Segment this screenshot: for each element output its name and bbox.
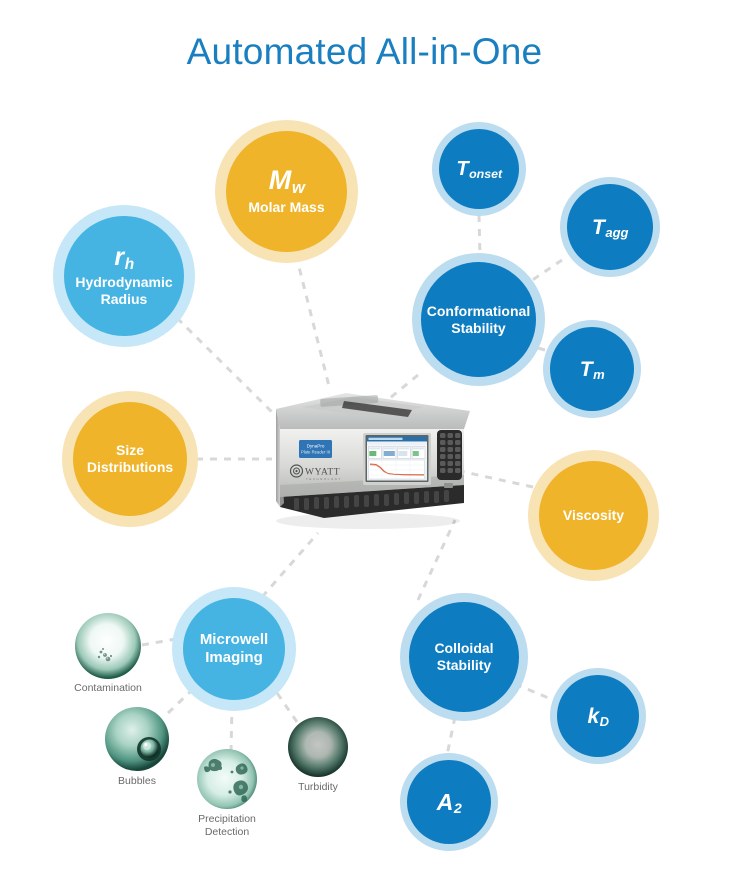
well-contamination[interactable]: Contamination: [74, 612, 142, 680]
well-bubbles-caption: Bubbles: [57, 775, 217, 788]
svg-text:Plate Reader III: Plate Reader III: [301, 449, 330, 454]
well-precipitation-caption-line2: Detection: [147, 826, 307, 839]
colloidal-label-line1: Colloidal: [434, 640, 493, 657]
colloidal-label-line2: Stability: [437, 657, 491, 674]
kd-symbol: k: [587, 705, 599, 728]
link-tagg-conformational: [528, 260, 562, 283]
node-microwell-imaging[interactable]: Microwell Imaging: [172, 587, 296, 711]
node-molar-mass[interactable]: Mw Molar Mass: [215, 120, 358, 263]
t-onset-symbol: T: [456, 158, 468, 180]
node-t-onset[interactable]: Tonset: [432, 122, 526, 216]
well-turbidity[interactable]: Turbidity: [287, 716, 349, 778]
node-hydrodynamic-radius[interactable]: rh Hydrodynamic Radius: [53, 205, 195, 347]
a2-symbol: A: [437, 789, 454, 815]
link-precipitation-microwell: [231, 706, 232, 752]
a2-subscript: 2: [454, 801, 462, 817]
size-distributions-label-line2: Distributions: [87, 459, 173, 476]
instrument-image: DynaPro Plate Reader III WYATT TECHNOLOG…: [258, 385, 473, 533]
hydrodynamic-symbol: r: [114, 243, 124, 271]
link-microwell-instrument: [262, 533, 318, 597]
well-precipitation-caption: Precipitation: [147, 813, 307, 826]
node-size-distributions[interactable]: Size Distributions: [62, 391, 198, 527]
t-m-subscript: m: [593, 367, 605, 382]
well-bubbles[interactable]: Bubbles: [104, 706, 170, 772]
hydrodynamic-label-line2: Radius: [101, 291, 148, 308]
microwell-label-line1: Microwell: [200, 631, 268, 649]
node-t-m[interactable]: Tm: [543, 320, 641, 418]
infographic-canvas: Automated All-in-One: [0, 0, 729, 891]
molar-mass-subscript: w: [292, 178, 305, 197]
t-m-symbol: T: [580, 358, 593, 381]
link-a2-colloidal: [447, 717, 455, 755]
node-conformational-stability[interactable]: Conformational Stability: [412, 253, 545, 386]
kd-subscript: D: [600, 714, 609, 729]
node-colloidal-stability[interactable]: Colloidal Stability: [400, 593, 528, 721]
node-kd[interactable]: kD: [550, 668, 646, 764]
node-viscosity[interactable]: Viscosity: [528, 450, 659, 581]
link-contamination-microwell: [142, 639, 176, 645]
hydrodynamic-subscript: h: [125, 256, 134, 273]
svg-text:WYATT: WYATT: [305, 468, 340, 478]
node-a2[interactable]: A2: [400, 753, 498, 851]
link-tonset-conformational: [479, 215, 480, 258]
link-molarmass-instrument: [296, 255, 330, 390]
conformational-label-line1: Conformational: [427, 303, 530, 320]
t-onset-subscript: onset: [469, 167, 502, 181]
molar-mass-symbol: M: [269, 165, 292, 195]
well-contamination-caption: Contamination: [28, 682, 188, 695]
conformational-label-line2: Stability: [451, 320, 505, 337]
size-distributions-label-line1: Size: [116, 442, 144, 459]
t-agg-subscript: agg: [605, 225, 628, 240]
well-precipitation[interactable]: Precipitation Detection: [196, 748, 258, 810]
molar-mass-label: Molar Mass: [248, 199, 324, 216]
svg-text:TECHNOLOGY: TECHNOLOGY: [306, 477, 342, 481]
node-t-agg[interactable]: Tagg: [560, 177, 660, 277]
t-agg-symbol: T: [592, 216, 605, 239]
viscosity-label: Viscosity: [563, 507, 624, 524]
svg-text:DynaPro: DynaPro: [307, 444, 325, 449]
page-title: Automated All-in-One: [0, 32, 729, 73]
hydrodynamic-label-line1: Hydrodynamic: [75, 274, 172, 291]
well-turbidity-caption: Turbidity: [238, 781, 398, 794]
microwell-label-line2: Imaging: [205, 649, 263, 667]
link-turbidity-microwell: [277, 693, 297, 722]
